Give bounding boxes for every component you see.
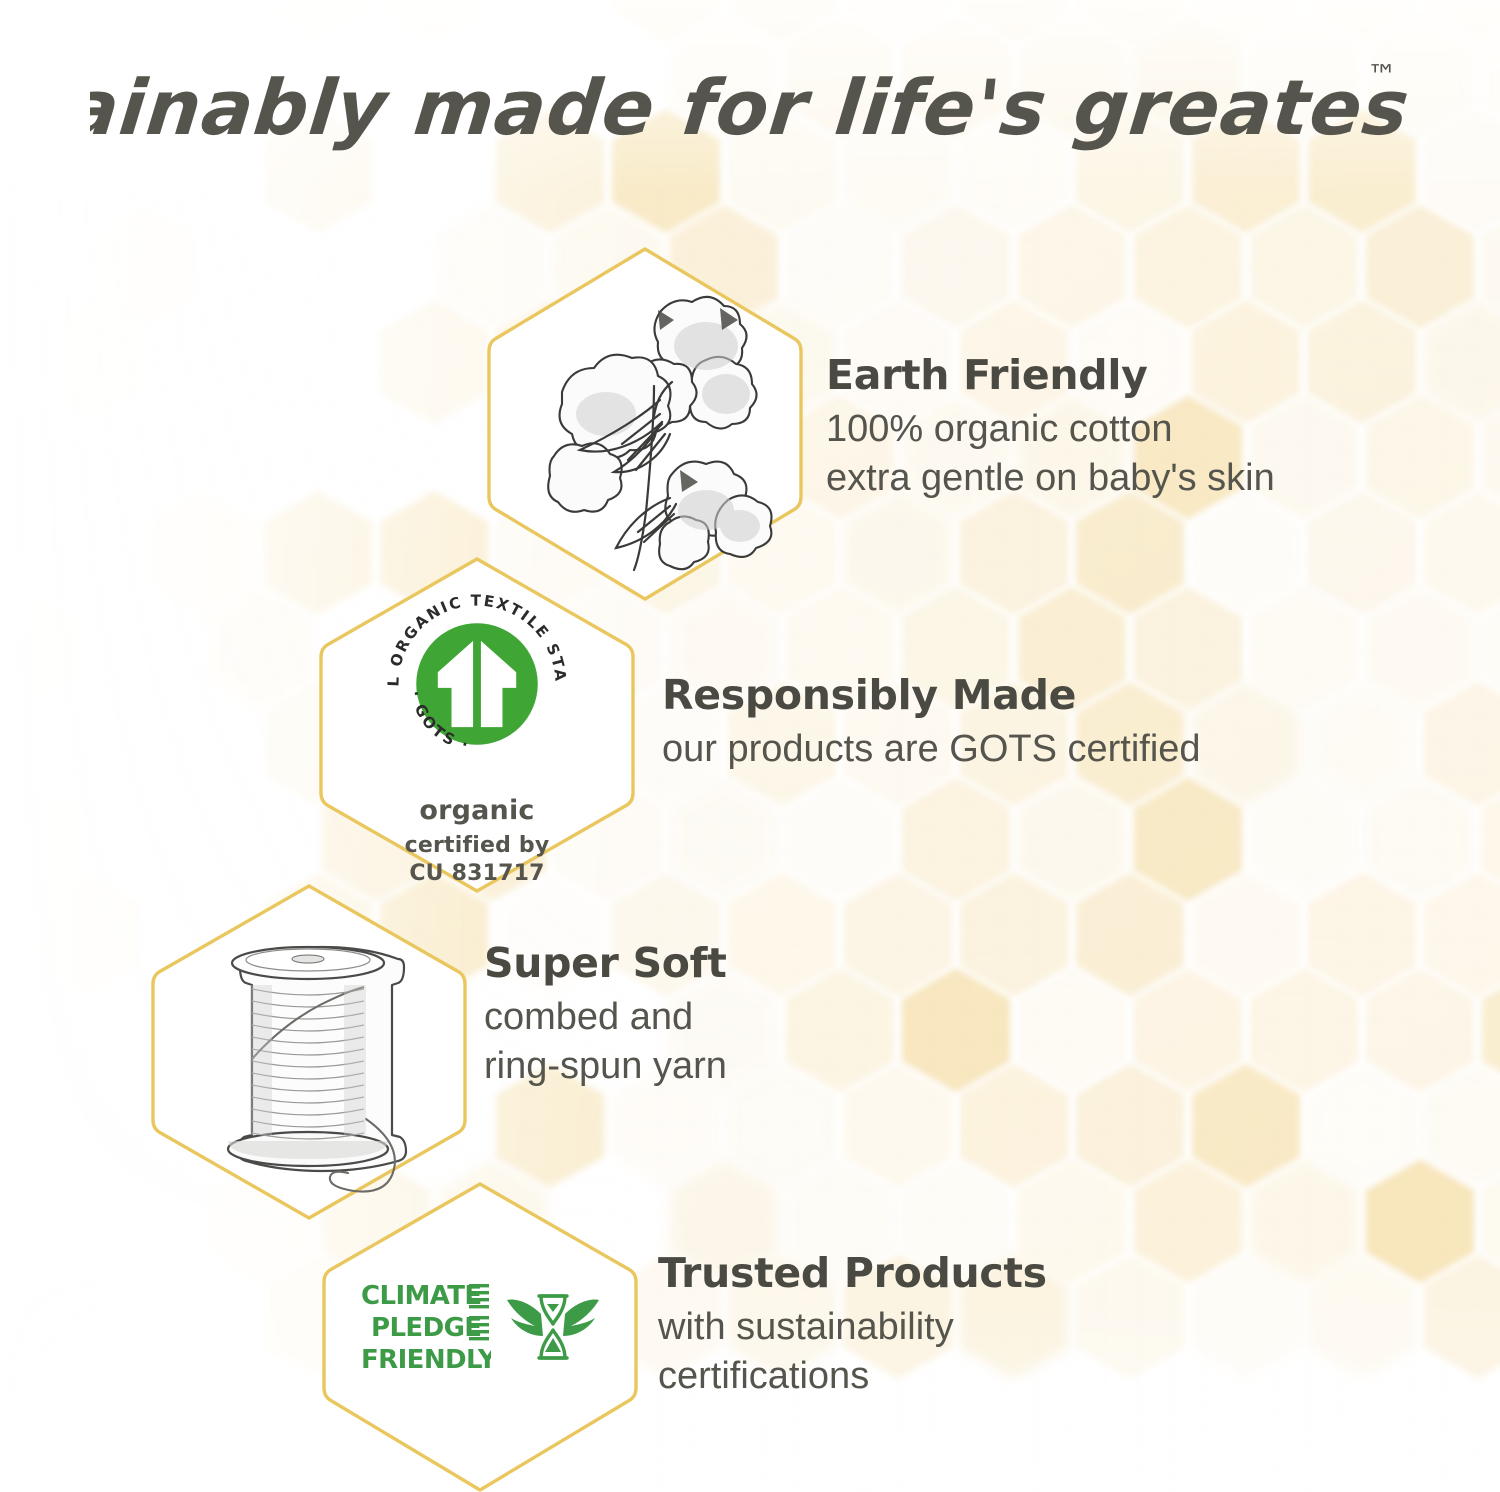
feature-super-soft: Super Soft combed and ring-spun yarn — [484, 940, 727, 1090]
feature-title: Super Soft — [484, 940, 727, 987]
feature-line: combed and — [484, 993, 727, 1042]
cpf-line-1: CLIMATE — [361, 1281, 482, 1311]
feature-title: Trusted Products — [658, 1250, 1047, 1297]
feature-line: ring-spun yarn — [484, 1042, 727, 1091]
feature-line: 100% organic cotton — [826, 405, 1275, 454]
climate-pledge-friendly-logo: CLIMATE PLEDGE FRIENDLY — [361, 1278, 599, 1376]
hexagon-trusted-products: CLIMATE PLEDGE FRIENDLY — [318, 1178, 642, 1492]
winged-hourglass-icon — [507, 1284, 599, 1370]
gots-certifier-code: CU 831717 — [315, 860, 639, 888]
feature-line: certifications — [658, 1352, 1047, 1401]
thread-spool-illustration — [194, 907, 424, 1197]
hexagon-earth-friendly — [483, 243, 807, 605]
feature-title: Earth Friendly — [826, 352, 1275, 399]
promo-infographic: sustainably made for life's greatest joy… — [0, 0, 1500, 1492]
cpf-line-3: FRIENDLY — [361, 1345, 491, 1375]
feature-responsibly-made: Responsibly Made our products are GOTS c… — [662, 672, 1201, 774]
feature-line: our products are GOTS certified — [662, 725, 1201, 774]
headline-trademark: ™ — [1367, 59, 1397, 94]
headline-text: sustainably made for life's greatest joy — [90, 63, 1410, 152]
cotton-boll-illustration — [510, 274, 780, 574]
feature-line: with sustainability — [658, 1303, 1047, 1352]
feature-trusted-products: Trusted Products with sustainability cer… — [658, 1250, 1047, 1400]
gots-organic-label: organic — [315, 795, 639, 826]
feature-title: Responsibly Made — [662, 672, 1201, 719]
headline-script-text: sustainably made for life's greatest joy… — [90, 48, 1410, 168]
climate-pledge-wordmark: CLIMATE PLEDGE FRIENDLY — [361, 1278, 491, 1376]
gots-seal-icon: GLOBAL ORGANIC TEXTILE STANDARD · GOTS · — [379, 586, 575, 782]
headline: sustainably made for life's greatest joy… — [0, 48, 1500, 168]
feature-earth-friendly: Earth Friendly 100% organic cotton extra… — [826, 352, 1275, 502]
cpf-line-2: PLEDGE — [371, 1313, 481, 1343]
gots-certified-by-label: certified by — [315, 832, 639, 860]
hexagon-super-soft — [147, 880, 471, 1224]
feature-line: extra gentle on baby's skin — [826, 454, 1275, 503]
gots-badge: GLOBAL ORGANIC TEXTILE STANDARD · GOTS ·… — [315, 586, 639, 887]
